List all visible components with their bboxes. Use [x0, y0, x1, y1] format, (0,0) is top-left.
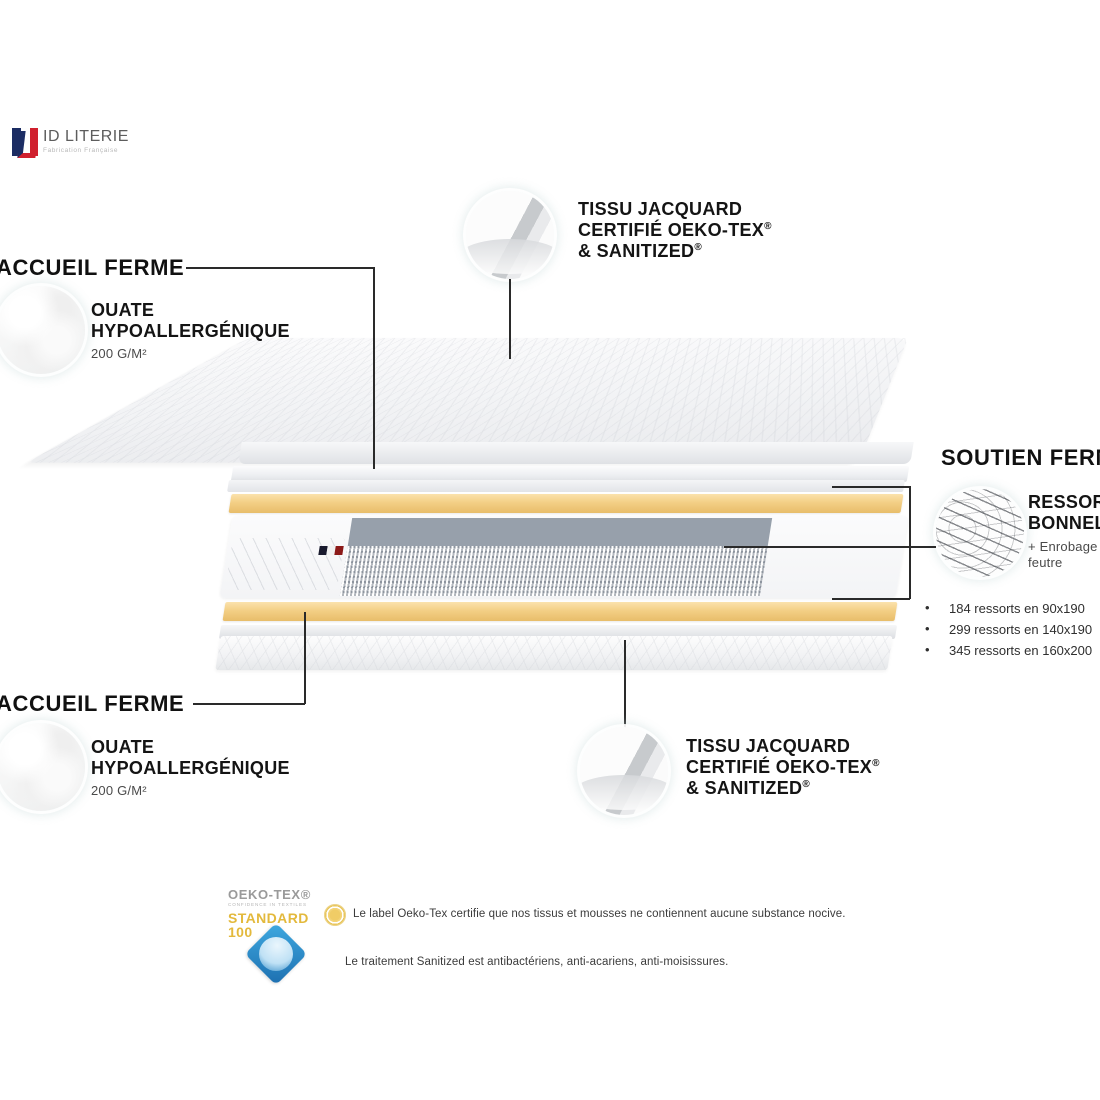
callout-right-title-1: RESSORTS [1028, 492, 1100, 513]
callout-top-right-title-1: TISSU JACQUARD [578, 199, 772, 220]
leader-line-bottom-right-v [624, 640, 626, 728]
callout-circle-jacquard-top [466, 191, 554, 279]
french-flag-icon [12, 128, 38, 156]
leader-line-felt-top-h [832, 486, 910, 488]
callout-right-detail-1: + Enrobage [1028, 539, 1100, 555]
leader-line-felt-bottom-h [832, 598, 910, 600]
oeko-tex-sun-icon [324, 904, 346, 926]
callout-top-right-title-2: CERTIFIÉ OEKO-TEX® [578, 220, 772, 241]
leader-line-felt-bottom-v [909, 546, 911, 599]
leader-line-top-left-h [186, 267, 374, 269]
leader-line-bottom-left-v [304, 612, 306, 704]
leader-line-top-left-v [373, 267, 375, 469]
callout-circle-jacquard-bottom [580, 727, 668, 815]
bonnell-spring-mesh-icon [340, 546, 768, 596]
layer-spring-core [220, 516, 909, 598]
callout-top-left-title-2: HYPOALLERGÉNIQUE [91, 321, 290, 342]
french-flag-tag-icon [318, 546, 343, 555]
callout-bottom-left-detail: 200 G/M² [91, 783, 290, 799]
callout-circle-wadding-bottom [0, 723, 85, 811]
leader-line-felt-top-v [909, 486, 911, 546]
mattress-exploded-view [218, 330, 918, 675]
quilt-pattern-bottom-icon [215, 636, 892, 670]
product-diagram: ID LITERIE Fabrication Française ACCUEIL… [0, 0, 1100, 1100]
callout-bottom-left-title-2: HYPOALLERGÉNIQUE [91, 758, 290, 779]
layer-jacquard-bottom [215, 636, 892, 670]
layer-felt-bottom [222, 602, 897, 621]
layer-wadding-top-b [227, 480, 905, 492]
callout-top-right-title-3: & SANITIZED® [578, 241, 772, 262]
oeko-tex-title: OEKO-TEX® [228, 888, 333, 901]
brand-tagline: Fabrication Française [43, 148, 129, 155]
sanitized-description: Le traitement Sanitized est antibactérie… [345, 956, 728, 968]
leader-line-bottom-left-h [193, 703, 305, 705]
list-item: 299 ressorts en 140x190 [915, 619, 1092, 640]
brand-logo: ID LITERIE Fabrication Française [12, 128, 129, 156]
callout-bottom-right-title-1: TISSU JACQUARD [686, 736, 880, 757]
leader-line-spring-h [724, 546, 936, 548]
brand-name: ID LITERIE [43, 129, 129, 145]
layer-felt-top [228, 494, 903, 513]
callout-bottom-right-title-2: CERTIFIÉ OEKO-TEX® [686, 757, 880, 778]
leader-line-top-right-v [509, 279, 511, 359]
callout-top-left-detail: 200 G/M² [91, 346, 290, 362]
callout-bottom-left-heading: ACCUEIL FERME [0, 691, 184, 717]
layer-top-edge [238, 442, 913, 464]
callout-circle-wadding-top [0, 286, 85, 374]
callout-right-title-2: BONNELL [1028, 513, 1100, 534]
list-item: 184 ressorts en 90x190 [915, 598, 1092, 619]
callout-bottom-left-title-1: OUATE [91, 737, 290, 758]
list-item: 345 ressorts en 160x200 [915, 640, 1092, 661]
callout-bottom-right-title-3: & SANITIZED® [686, 778, 880, 799]
callout-right-heading: SOUTIEN FERME [941, 445, 1100, 471]
callout-circle-spring [936, 489, 1024, 577]
oeko-tex-description: Le label Oeko-Tex certifie que nos tissu… [353, 908, 846, 920]
spring-count-list: 184 ressorts en 90x190 299 ressorts en 1… [915, 598, 1092, 661]
oeko-tex-subtitle: CONFIDENCE IN TEXTILES [228, 903, 333, 908]
core-upper-band [347, 518, 772, 548]
callout-top-left-title-1: OUATE [91, 300, 290, 321]
callout-right-detail-2: feutre [1028, 555, 1100, 571]
callout-top-left-heading: ACCUEIL FERME [0, 255, 184, 281]
